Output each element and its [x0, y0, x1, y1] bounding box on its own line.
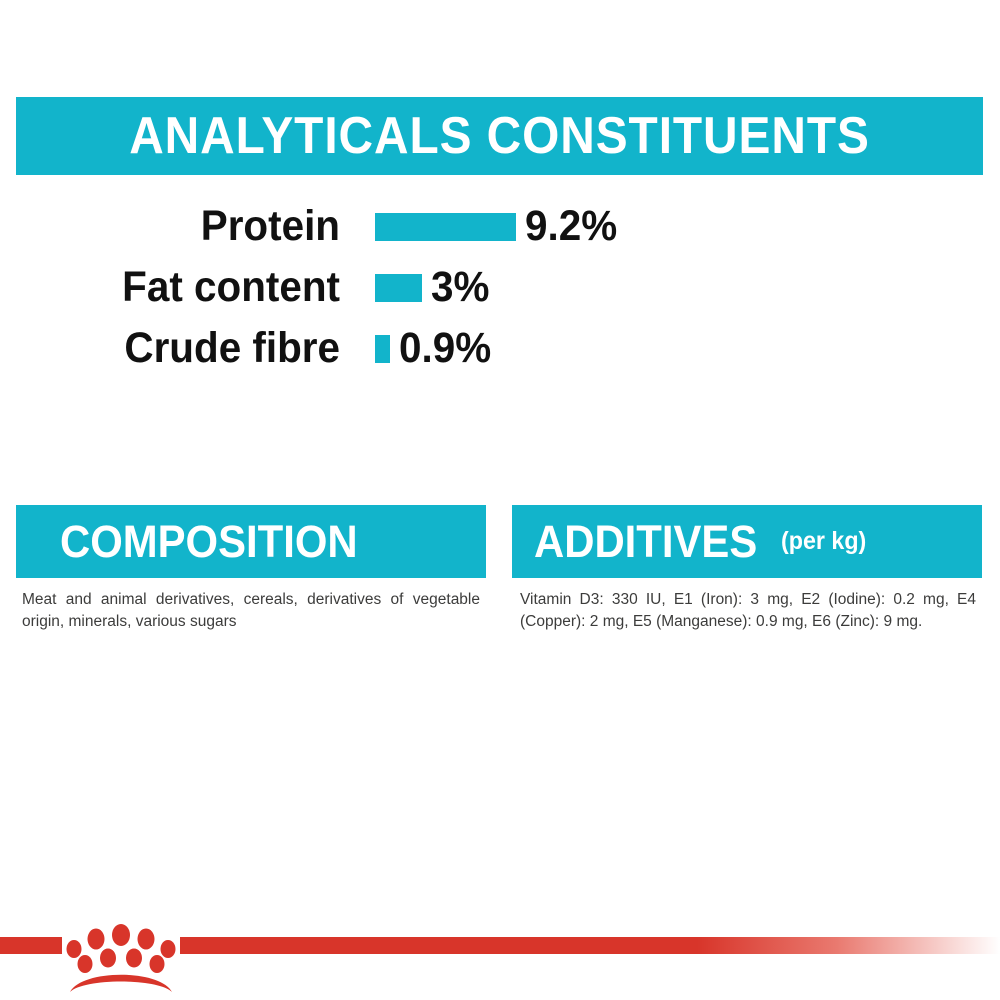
- constituent-label: Fat content: [20, 266, 340, 309]
- constituent-row-crude-fibre: Crude fibre 0.9%: [0, 318, 1000, 379]
- additives-section: ADDITIVES (per kg) Vitamin D3: 330 IU, E…: [512, 505, 982, 633]
- constituent-row-protein: Protein 9.2%: [0, 196, 1000, 257]
- additives-body-text: Vitamin D3: 330 IU, E1 (Iron): 3 mg, E2 …: [512, 589, 982, 633]
- footer-rule-left: [0, 937, 62, 954]
- constituent-bar-group: 3%: [375, 266, 493, 309]
- additives-header-label: ADDITIVES: [534, 519, 757, 564]
- analyticals-constituents-banner: ANALYTICALS CONSTITUENTS: [16, 97, 983, 175]
- info-sections: COMPOSITION Meat and animal derivatives,…: [16, 505, 983, 633]
- constituent-value: 0.9%: [399, 327, 491, 370]
- additives-header-unit: (per kg): [781, 529, 866, 554]
- constituent-bar-group: 0.9%: [375, 327, 497, 370]
- constituents-chart: Protein 9.2% Fat content 3% Crude fibre …: [0, 196, 1000, 379]
- page-title: ANALYTICALS CONSTITUENTS: [129, 110, 870, 162]
- composition-body-text: Meat and animal derivatives, cereals, de…: [16, 589, 486, 633]
- composition-header-label: COMPOSITION: [60, 519, 358, 564]
- constituent-bar: [375, 274, 422, 302]
- constituent-value: 3%: [431, 266, 489, 309]
- footer-rule-right: [180, 937, 1000, 954]
- additives-header: ADDITIVES (per kg): [512, 505, 982, 578]
- composition-header: COMPOSITION: [16, 505, 486, 578]
- constituent-bar: [375, 335, 390, 363]
- constituent-bar: [375, 213, 516, 241]
- constituent-value: 9.2%: [525, 205, 617, 248]
- constituent-row-fat-content: Fat content 3%: [0, 257, 1000, 318]
- constituent-label: Crude fibre: [20, 327, 340, 370]
- footer: [0, 930, 1000, 1000]
- composition-section: COMPOSITION Meat and animal derivatives,…: [16, 505, 486, 633]
- royal-canin-crown-icon: [62, 922, 180, 996]
- constituent-label: Protein: [20, 205, 340, 248]
- constituent-bar-group: 9.2%: [375, 205, 623, 248]
